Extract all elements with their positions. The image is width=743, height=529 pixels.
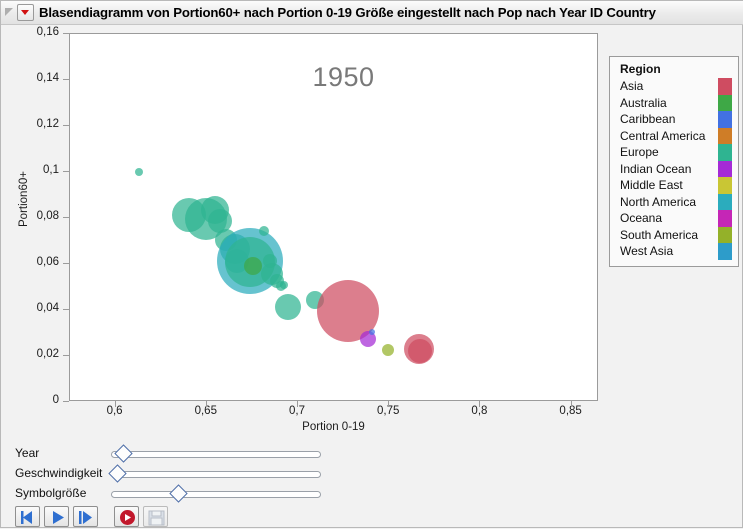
legend-item[interactable]: South America	[616, 227, 732, 244]
legend-color-swatch[interactable]	[718, 161, 732, 178]
y-tick-mark	[63, 401, 69, 402]
step-forward-button[interactable]	[73, 506, 98, 527]
x-tick-mark	[115, 401, 116, 407]
legend-color-swatch[interactable]	[718, 194, 732, 211]
legend-color-swatch[interactable]	[718, 227, 732, 244]
y-tick-label: 0	[15, 394, 59, 406]
bubble-point[interactable]	[408, 339, 432, 363]
legend-color-swatch[interactable]	[718, 210, 732, 227]
plot-canvas[interactable]: 1950	[69, 33, 598, 401]
x-tick-mark	[206, 401, 207, 407]
legend-color-swatch[interactable]	[718, 111, 732, 128]
slider-thumb[interactable]	[169, 484, 187, 502]
legend-item-label: Caribbean	[616, 112, 718, 126]
x-tick-mark	[388, 401, 389, 407]
legend-color-swatch[interactable]	[718, 144, 732, 161]
legend-color-swatch[interactable]	[718, 243, 732, 260]
bubble-point[interactable]	[259, 226, 269, 236]
bubble-point[interactable]	[135, 168, 143, 176]
legend-item[interactable]: North America	[616, 194, 732, 211]
x-tick-mark	[571, 401, 572, 407]
y-tick-label: 0,16	[15, 26, 59, 38]
slider-thumb[interactable]	[108, 464, 126, 482]
legend-item-label: South America	[616, 228, 718, 242]
legend-item[interactable]: Australia	[616, 95, 732, 112]
x-tick-mark	[297, 401, 298, 407]
slider-row: Geschwindigkeit	[15, 464, 321, 482]
slider-label: Year	[15, 446, 111, 460]
legend-color-swatch[interactable]	[718, 78, 732, 95]
slider-track[interactable]	[111, 471, 321, 478]
red-dropdown-triangle-icon[interactable]	[17, 4, 34, 21]
play-button[interactable]	[44, 506, 69, 527]
legend-item-label: Australia	[616, 96, 718, 110]
playback-button-row	[15, 506, 172, 527]
legend-title: Region	[616, 62, 732, 76]
slider-geschwindigkeit[interactable]	[111, 465, 321, 481]
save-button[interactable]	[143, 506, 168, 527]
legend-item[interactable]: Middle East	[616, 177, 732, 194]
bubble-point[interactable]	[280, 281, 288, 289]
legend-color-swatch[interactable]	[718, 95, 732, 112]
plot-area: Portion60+ 00,020,040,060,080,10,120,140…	[1, 25, 743, 441]
y-tick-label: 0,02	[15, 348, 59, 360]
record-button[interactable]	[114, 506, 139, 527]
legend-color-swatch[interactable]	[718, 177, 732, 194]
y-tick-label: 0,1	[15, 164, 59, 176]
legend-item[interactable]: Caribbean	[616, 111, 732, 128]
bubble-point[interactable]	[275, 294, 301, 320]
chart-window: Blasendiagramm von Portion60+ nach Porti…	[0, 0, 743, 528]
x-tick-mark	[479, 401, 480, 407]
legend-item[interactable]: Indian Ocean	[616, 161, 732, 178]
slider-row: Year	[15, 444, 321, 462]
legend-item[interactable]: Asia	[616, 78, 732, 95]
triangle-collapse-icon[interactable]	[4, 7, 15, 18]
slider-label: Geschwindigkeit	[15, 466, 111, 480]
y-tick-label: 0,14	[15, 72, 59, 84]
y-tick-label: 0,12	[15, 118, 59, 130]
y-tick-label: 0,06	[15, 256, 59, 268]
legend-item-label: Asia	[616, 79, 718, 93]
legend-item-label: Indian Ocean	[616, 162, 718, 176]
slider-label: Symbolgröße	[15, 486, 111, 500]
animation-controls: YearGeschwindigkeitSymbolgröße	[1, 444, 743, 529]
legend: Region AsiaAustraliaCaribbeanCentral Ame…	[609, 56, 739, 267]
slider-track[interactable]	[111, 491, 321, 498]
legend-item-label: Oceana	[616, 211, 718, 225]
bubble-point[interactable]	[369, 329, 375, 335]
legend-item[interactable]: Europe	[616, 144, 732, 161]
slider-symbolgr-e[interactable]	[111, 485, 321, 501]
page-title: Blasendiagramm von Portion60+ nach Porti…	[39, 5, 656, 20]
legend-item[interactable]: West Asia	[616, 243, 732, 260]
window-titlebar: Blasendiagramm von Portion60+ nach Porti…	[1, 1, 743, 25]
x-axis-title: Portion 0-19	[69, 421, 598, 433]
legend-item-label: Middle East	[616, 178, 718, 192]
bubble-point[interactable]	[382, 344, 394, 356]
slider-year[interactable]	[111, 445, 321, 461]
legend-item-label: Central America	[616, 129, 718, 143]
legend-item-label: Europe	[616, 145, 718, 159]
legend-items: AsiaAustraliaCaribbeanCentral AmericaEur…	[616, 78, 732, 260]
slider-track[interactable]	[111, 451, 321, 458]
legend-item-label: West Asia	[616, 244, 718, 258]
legend-item[interactable]: Central America	[616, 128, 732, 145]
legend-item-label: North America	[616, 195, 718, 209]
step-back-button[interactable]	[15, 506, 40, 527]
y-tick-label: 0,08	[15, 210, 59, 222]
slider-row: Symbolgröße	[15, 484, 321, 502]
y-tick-label: 0,04	[15, 302, 59, 314]
slider-thumb[interactable]	[114, 444, 132, 462]
legend-item[interactable]: Oceana	[616, 210, 732, 227]
year-annotation: 1950	[80, 62, 598, 93]
legend-color-swatch[interactable]	[718, 128, 732, 145]
